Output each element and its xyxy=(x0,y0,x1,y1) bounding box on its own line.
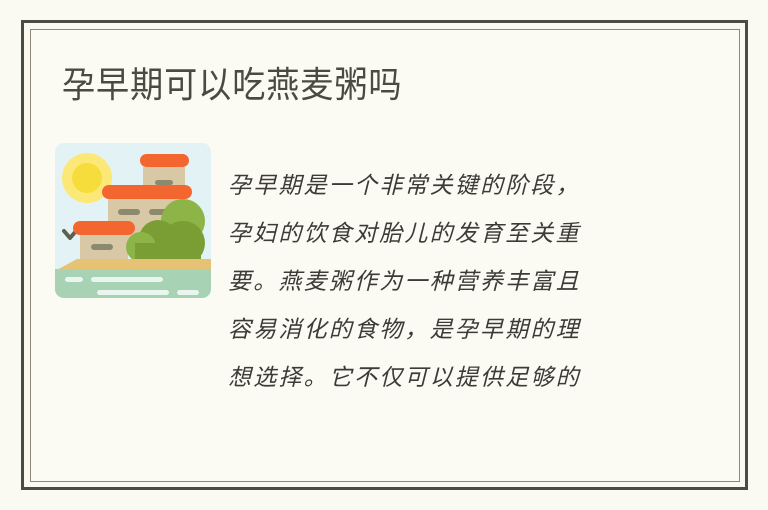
article-body: 孕早期是一个非常关键的阶段， 孕妇的饮食对胎儿的发育至关重 要。燕麦粥作为一种营… xyxy=(228,162,648,402)
coastal-village-illustration xyxy=(55,143,211,298)
body-line: 容易消化的食物，是孕早期的理 xyxy=(228,306,648,354)
page-title: 孕早期可以吃燕麦粥吗 xyxy=(62,63,402,107)
body-line: 孕早期是一个非常关键的阶段， xyxy=(228,162,648,210)
article-page: 孕早期可以吃燕麦粥吗 xyxy=(0,0,768,510)
body-line: 想选择。它不仅可以提供足够的 xyxy=(228,354,648,402)
body-line: 孕妇的饮食对胎儿的发育至关重 xyxy=(228,210,648,258)
body-line: 要。燕麦粥作为一种营养丰富且 xyxy=(228,258,648,306)
